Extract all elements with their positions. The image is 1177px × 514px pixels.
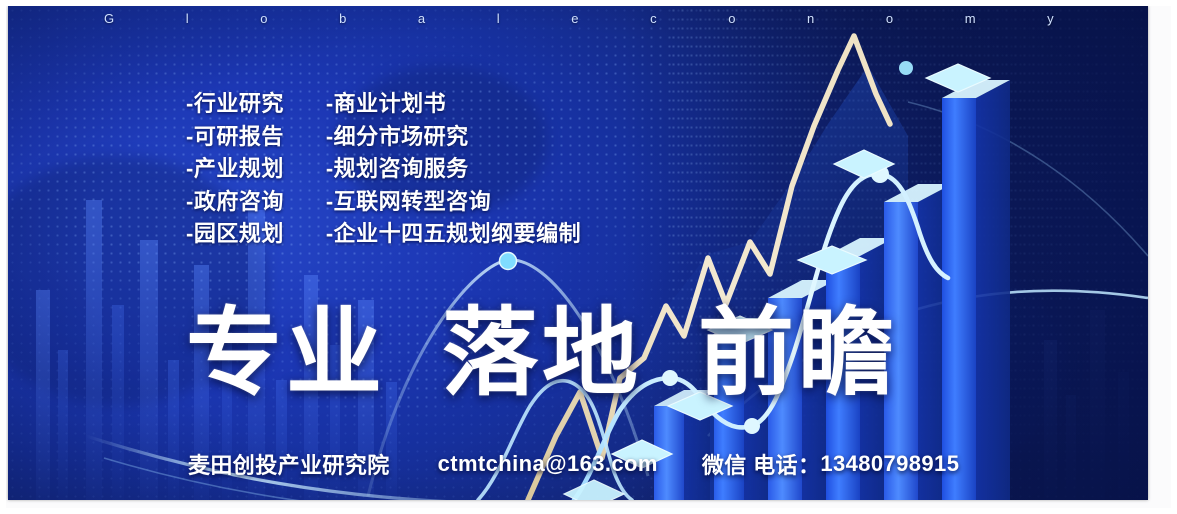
service-item: -企业十四五规划纲要编制 [326,218,581,251]
services-lists: -行业研究 -可研报告 -产业规划 -政府咨询 -园区规划 -商业计划书 -细分… [186,88,581,251]
curve-node-2 [744,418,760,434]
footer-contact-line: 麦田创投产业研究院 ctmtchina@163.com 微信 电话： 13480… [188,448,959,480]
headline-word-1: 专业 [186,306,386,402]
contact-label: 微信 电话： [702,448,821,480]
email-address: ctmtchina@163.com [438,451,658,477]
service-item: -规划咨询服务 [326,153,581,186]
headline: 专业 落地 前瞻 [186,306,898,402]
company-name: 麦田创投产业研究院 [188,448,390,480]
service-item: -行业研究 [186,88,284,121]
economy-chart-graphic [8,6,1148,500]
service-item: -园区规划 [186,218,284,251]
promotional-banner: G l o b a l e c o n o m y -行业研究 -可研报告 -产… [8,6,1148,500]
service-item: -互联网转型咨询 [326,186,581,219]
headline-word-3: 前瞻 [698,306,898,402]
service-item: -产业规划 [186,153,284,186]
chart-bar-5 [942,80,1010,500]
marker-node-top [899,61,913,75]
services-list-right: -商业计划书 -细分市场研究 -规划咨询服务 -互联网转型咨询 -企业十四五规划… [326,88,581,251]
service-item: -政府咨询 [186,186,284,219]
service-item: -可研报告 [186,121,284,154]
kicker-text: G l o b a l e c o n o m y [104,11,1088,26]
headline-word-2: 落地 [442,306,642,402]
banner-canvas: G l o b a l e c o n o m y -行业研究 -可研报告 -产… [0,0,1177,514]
service-item: -商业计划书 [326,88,581,121]
phone-number: 13480798915 [820,451,959,477]
services-list-left: -行业研究 -可研报告 -产业规划 -政府咨询 -园区规划 [186,88,284,251]
service-item: -细分市场研究 [326,121,581,154]
